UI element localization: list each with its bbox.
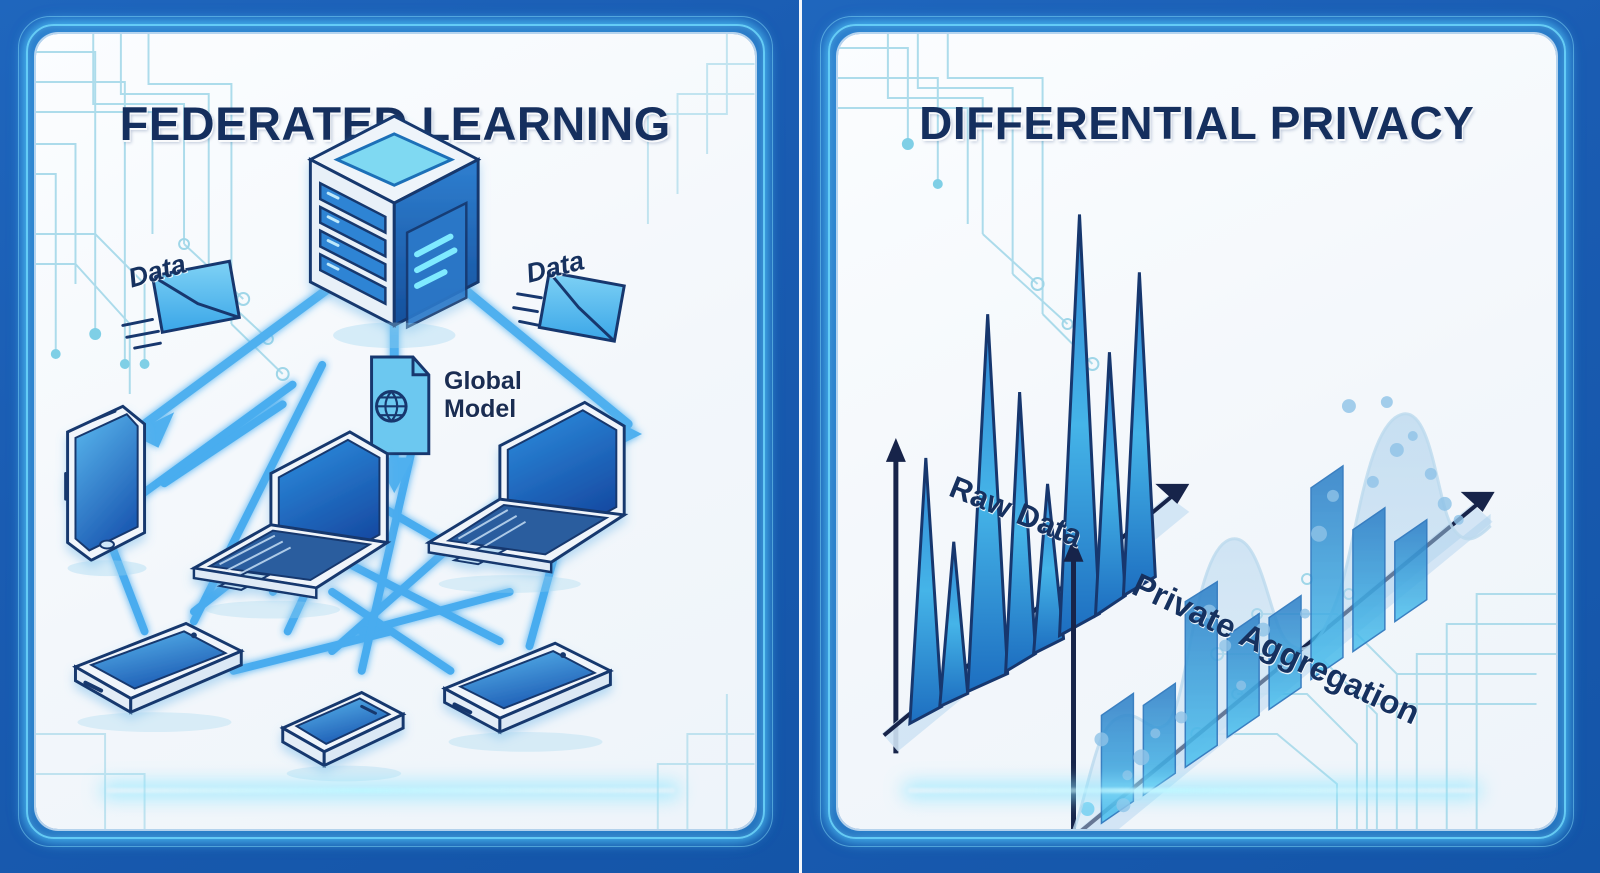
panel-federated-learning: FEDERATED LEARNING	[0, 0, 799, 873]
globe-document-icon	[372, 357, 429, 454]
label-global-model-line1: Global	[444, 368, 522, 394]
smartphone-bottom-center	[283, 693, 403, 766]
laptop-right	[429, 402, 624, 572]
label-global-model-line2: Model	[444, 396, 516, 422]
tablet-bottom-left	[75, 623, 241, 712]
differential-privacy-charts	[838, 34, 1557, 829]
card-federated-learning: FEDERATED LEARNING	[36, 34, 755, 829]
panel-differential-privacy: DIFFERENTIAL PRIVACY	[799, 0, 1600, 873]
tablet-bottom-right	[445, 643, 611, 732]
federated-learning-diagram	[36, 34, 755, 829]
smartphone-upright	[66, 406, 145, 560]
server-rack-icon	[310, 116, 478, 327]
infographic-stage: FEDERATED LEARNING	[0, 0, 1600, 873]
chart-raw-data	[881, 214, 1188, 753]
chart-private-aggregation	[1059, 396, 1494, 829]
card-differential-privacy: DIFFERENTIAL PRIVACY	[838, 34, 1557, 829]
